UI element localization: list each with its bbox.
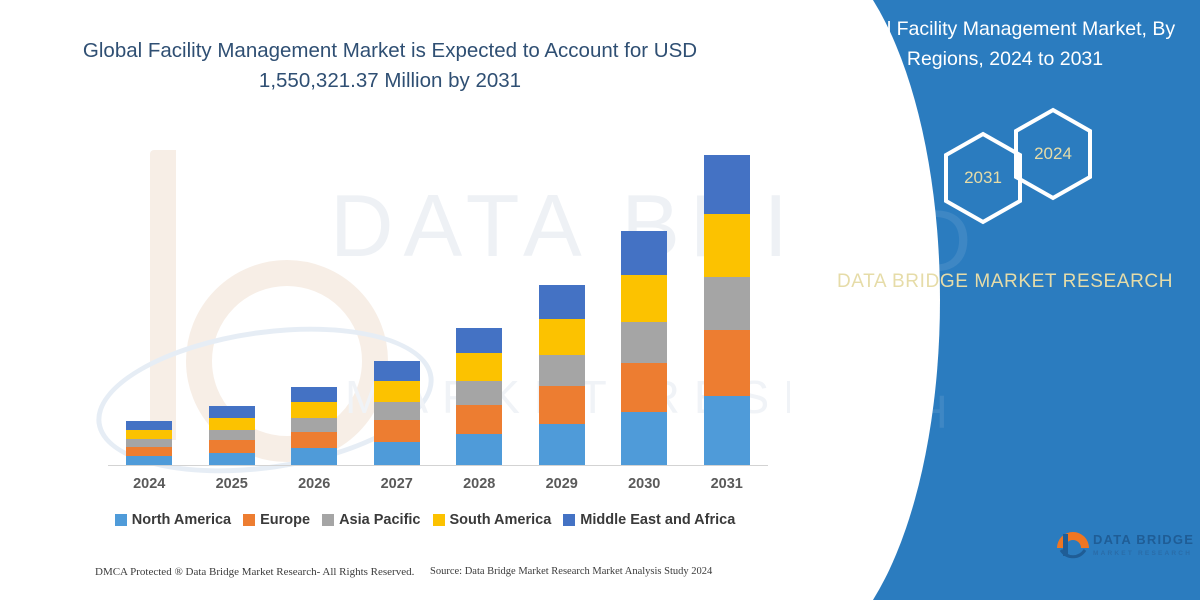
bar-segment-north-america	[704, 396, 750, 465]
bar-segment-south-america	[456, 353, 502, 381]
bar-2029	[539, 285, 585, 465]
bar-segment-asia-pacific	[704, 277, 750, 331]
x-axis-line	[108, 465, 768, 466]
x-axis-labels: 20242025202620272028202920302031	[108, 476, 768, 498]
panel-watermark-small: RCH	[820, 385, 962, 439]
x-axis-label-2024: 2024	[109, 476, 189, 492]
bar-segment-asia-pacific	[539, 355, 585, 387]
bar-segment-south-america	[374, 381, 420, 402]
legend-label: Middle East and Africa	[580, 512, 735, 528]
bar-segment-north-america	[126, 456, 172, 465]
bar-segment-middle-east-and-africa	[209, 406, 255, 418]
bar-segment-north-america	[374, 442, 420, 465]
x-axis-label-2028: 2028	[439, 476, 519, 492]
bar-segment-north-america	[621, 412, 667, 465]
legend-swatch-icon	[243, 514, 255, 526]
bar-segment-middle-east-and-africa	[456, 328, 502, 354]
bar-2027	[374, 361, 420, 465]
x-axis-label-2025: 2025	[192, 476, 272, 492]
bar-segment-north-america	[456, 434, 502, 465]
bar-2025	[209, 406, 255, 465]
x-axis-label-2026: 2026	[274, 476, 354, 492]
bar-segment-middle-east-and-africa	[539, 285, 585, 318]
legend-item-europe[interactable]: Europe	[243, 512, 310, 528]
bar-segment-asia-pacific	[456, 381, 502, 405]
bar-segment-middle-east-and-africa	[704, 155, 750, 214]
bar-segment-europe	[704, 330, 750, 396]
x-axis-label-2030: 2030	[604, 476, 684, 492]
bar-segment-europe	[539, 386, 585, 424]
bar-2030	[621, 231, 667, 465]
footer-copyright: DMCA Protected ® Data Bridge Market Rese…	[95, 566, 414, 578]
bar-segment-south-america	[209, 418, 255, 430]
bar-segment-south-america	[126, 430, 172, 439]
bridge-logo-icon	[1055, 528, 1091, 562]
legend-swatch-icon	[563, 514, 575, 526]
bar-segment-south-america	[621, 275, 667, 322]
legend-swatch-icon	[115, 514, 127, 526]
legend-item-asia-pacific[interactable]: Asia Pacific	[322, 512, 420, 528]
logo-title: DATA BRIDGE	[1093, 532, 1194, 547]
bar-2024	[126, 421, 172, 465]
legend-label: Asia Pacific	[339, 512, 420, 528]
bar-segment-north-america	[209, 453, 255, 465]
legend-label: Europe	[260, 512, 310, 528]
bar-segment-europe	[374, 420, 420, 442]
chart-pane: Global Facility Management Market is Exp…	[0, 0, 850, 600]
hexagon-badge-end-year: 2024	[1010, 106, 1096, 202]
hexagon-badges: 2031 2024	[920, 110, 1150, 220]
bar-segment-south-america	[291, 402, 337, 418]
legend-item-north-america[interactable]: North America	[115, 512, 231, 528]
legend-swatch-icon	[433, 514, 445, 526]
dbmr-logo: DATA BRIDGE MARKET RESEARCH	[1055, 528, 1195, 574]
legend-item-south-america[interactable]: South America	[433, 512, 552, 528]
bar-segment-europe	[456, 405, 502, 434]
footer-source: Source: Data Bridge Market Research Mark…	[430, 566, 712, 577]
chart-legend: North AmericaEuropeAsia PacificSouth Ame…	[0, 512, 850, 528]
panel-curve-decoration	[790, 0, 940, 600]
bar-2028	[456, 328, 502, 465]
hexagon-label-2024: 2024	[1010, 106, 1096, 202]
bar-2031	[704, 155, 750, 465]
legend-label: South America	[450, 512, 552, 528]
legend-label: North America	[132, 512, 231, 528]
bar-segment-asia-pacific	[621, 322, 667, 363]
brand-name: DATA BRIDGE MARKET RESEARCH	[820, 268, 1190, 296]
x-axis-label-2027: 2027	[357, 476, 437, 492]
bar-series-container	[108, 130, 768, 465]
panel-title: Global Facility Management Market, By Re…	[820, 14, 1190, 74]
bar-segment-asia-pacific	[209, 430, 255, 441]
x-axis-label-2031: 2031	[687, 476, 767, 492]
legend-item-middle-east-and-africa[interactable]: Middle East and Africa	[563, 512, 735, 528]
bar-segment-europe	[126, 447, 172, 456]
bar-segment-middle-east-and-africa	[621, 231, 667, 275]
bar-segment-europe	[621, 363, 667, 413]
logo-subtitle: MARKET RESEARCH	[1093, 550, 1192, 557]
bar-segment-north-america	[539, 424, 585, 465]
bar-segment-middle-east-and-africa	[374, 361, 420, 381]
bar-segment-europe	[291, 432, 337, 448]
chart-canvas: DATA BRIDGE MARKET RESEARCH Global Facil…	[0, 0, 1200, 600]
bar-segment-south-america	[704, 214, 750, 276]
bar-segment-asia-pacific	[291, 418, 337, 432]
bar-segment-north-america	[291, 448, 337, 465]
bar-segment-middle-east-and-africa	[126, 421, 172, 430]
bar-segment-south-america	[539, 319, 585, 355]
legend-swatch-icon	[322, 514, 334, 526]
bar-segment-asia-pacific	[374, 402, 420, 420]
bar-segment-middle-east-and-africa	[291, 387, 337, 402]
bar-2026	[291, 387, 337, 465]
page-title: Global Facility Management Market is Exp…	[40, 36, 740, 96]
side-panel: RID RCH Global Facility Management Marke…	[790, 0, 1200, 600]
bar-segment-asia-pacific	[126, 439, 172, 447]
x-axis-label-2029: 2029	[522, 476, 602, 492]
bar-segment-europe	[209, 440, 255, 452]
